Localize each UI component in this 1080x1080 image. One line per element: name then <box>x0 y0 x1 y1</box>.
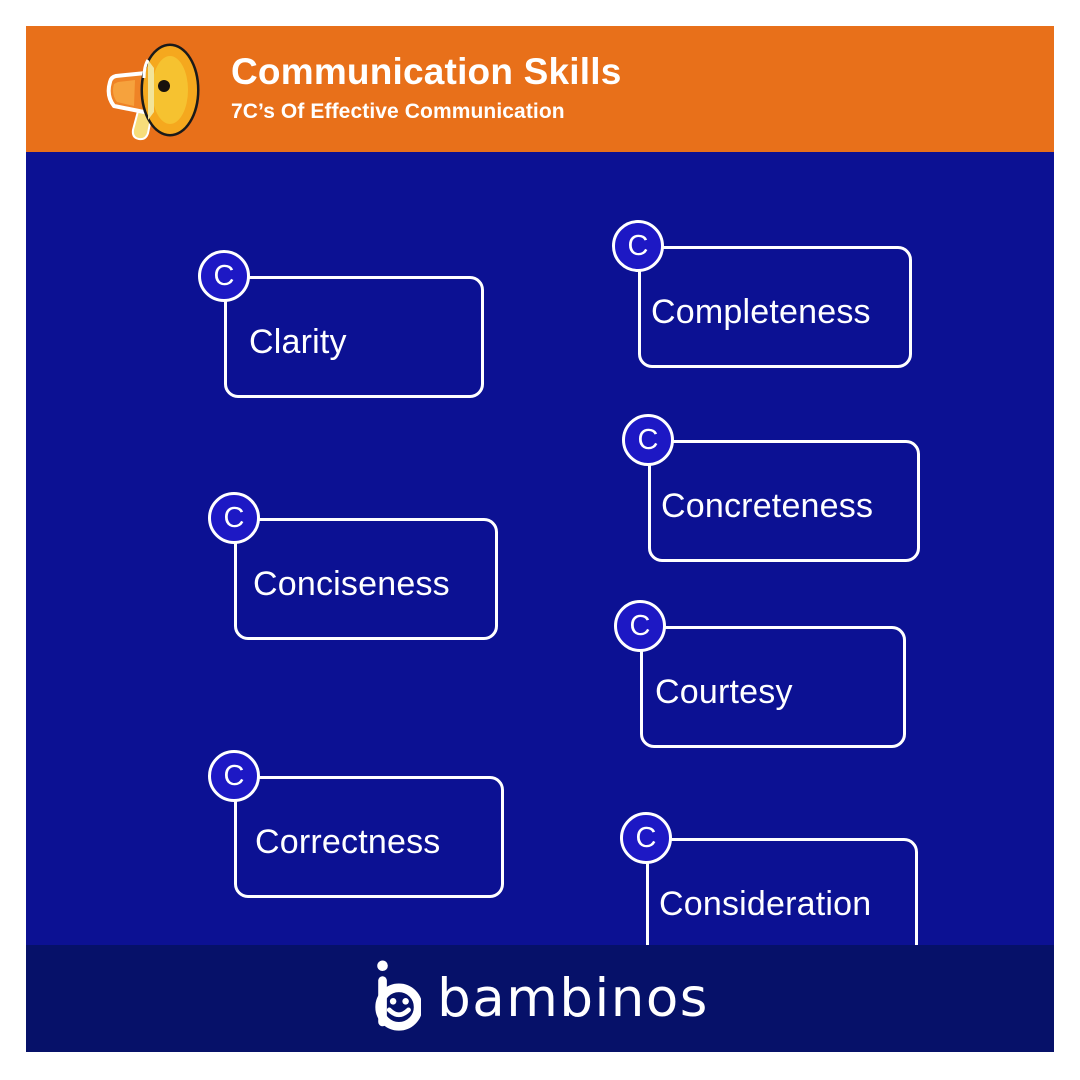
page-subtitle: 7C’s Of Effective Communication <box>231 97 971 127</box>
badge-c-icon: C <box>208 492 260 544</box>
card-label: Consideration <box>643 885 871 923</box>
card-frame: Consideration <box>646 838 918 960</box>
card-frame: Conciseness <box>234 518 498 640</box>
header-text-block: Communication Skills 7C’s Of Effective C… <box>231 50 971 127</box>
card-frame: Clarity <box>224 276 484 398</box>
card-label: Correctness <box>233 823 440 861</box>
header-banner: Communication Skills 7C’s Of Effective C… <box>26 26 1054 152</box>
brand-lockup: bambinos <box>371 959 709 1039</box>
card-frame: Correctness <box>234 776 504 898</box>
brand-wordmark: bambinos <box>437 971 709 1027</box>
megaphone-icon <box>98 38 208 143</box>
badge-c-icon: C <box>614 600 666 652</box>
card-label: Completeness <box>635 293 871 331</box>
badge-c-icon: C <box>622 414 674 466</box>
cards-area: Clarity C Conciseness C Correctness C Co… <box>26 152 1054 945</box>
card-label: Courtesy <box>639 673 793 711</box>
badge-c-icon: C <box>208 750 260 802</box>
card-frame: Concreteness <box>648 440 920 562</box>
card-label: Clarity <box>227 323 347 361</box>
page-title: Communication Skills <box>231 50 971 94</box>
infographic-poster: Communication Skills 7C’s Of Effective C… <box>26 26 1054 1052</box>
bambinos-smiley-b-logo-icon <box>371 959 421 1039</box>
badge-c-icon: C <box>612 220 664 272</box>
card-label: Conciseness <box>233 565 450 603</box>
badge-c-icon: C <box>620 812 672 864</box>
footer-bar: bambinos <box>26 945 1054 1052</box>
badge-c-icon: C <box>198 250 250 302</box>
card-frame: Completeness <box>638 246 912 368</box>
card-label: Concreteness <box>645 487 873 525</box>
card-frame: Courtesy <box>640 626 906 748</box>
